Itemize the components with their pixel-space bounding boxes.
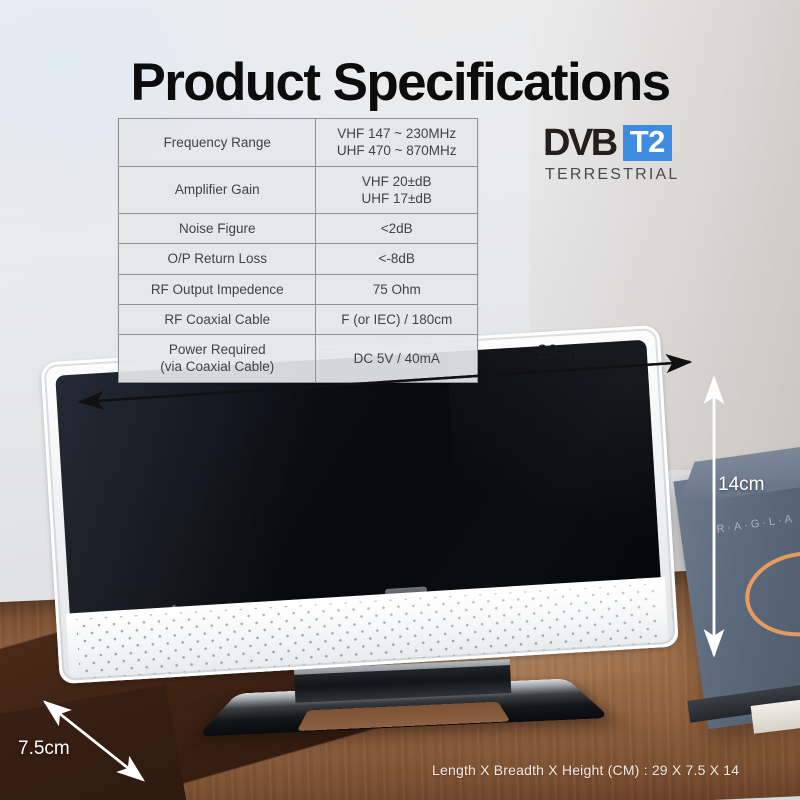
table-row: O/P Return Loss <-8dB: [119, 244, 478, 274]
spec-value: DC 5V / 40mA: [316, 335, 478, 383]
dvb-wordmark: DVB: [543, 124, 616, 162]
spec-value: <-8dB: [316, 244, 478, 274]
table-row: Power Required (via Coaxial Cable) DC 5V…: [119, 335, 478, 383]
spec-value: VHF 20±dB UHF 17±dB: [316, 166, 478, 214]
spec-label: RF Coaxial Cable: [119, 304, 316, 334]
spec-value: <2dB: [316, 214, 478, 244]
table-row: Noise Figure <2dB: [119, 214, 478, 244]
spec-label: Frequency Range: [119, 119, 316, 167]
spec-value: F (or IEC) / 180cm: [316, 304, 478, 334]
table-row: RF Coaxial Cable F (or IEC) / 180cm: [119, 304, 478, 334]
dvb-logo-row: DVB T2: [543, 124, 672, 162]
spec-table-body: Frequency Range VHF 147 ~ 230MHz UHF 470…: [119, 119, 478, 383]
spec-label: Power Required (via Coaxial Cable): [119, 335, 316, 383]
dimensions-caption: Length X Breadth X Height (CM) : 29 X 7.…: [432, 762, 739, 778]
table-row: Frequency Range VHF 147 ~ 230MHz UHF 470…: [119, 119, 478, 167]
spec-value: VHF 147 ~ 230MHz UHF 470 ~ 870MHz: [316, 119, 478, 167]
dvb-t2-logo: DVB T2 TERRESTRIAL: [543, 124, 703, 186]
spec-label: O/P Return Loss: [119, 244, 316, 274]
height-dimension-label: 14cm: [718, 474, 764, 496]
spec-label: Amplifier Gain: [119, 166, 316, 214]
spec-label: Noise Figure: [119, 214, 316, 244]
product-spec-image: R·A·G·L·A DAIYO ® JAPAN: [0, 0, 800, 800]
table-row: RF Output Impedence 75 Ohm: [119, 274, 478, 304]
spec-label: RF Output Impedence: [119, 274, 316, 304]
dvb-subtitle: TERRESTRIAL: [545, 166, 679, 184]
depth-dimension-label: 7.5cm: [18, 738, 70, 760]
spec-value: 75 Ohm: [316, 274, 478, 304]
width-dimension-label: 29cm: [537, 342, 583, 364]
specifications-table: Frequency Range VHF 147 ~ 230MHz UHF 470…: [118, 118, 478, 383]
dvb-t2-badge: T2: [623, 125, 672, 162]
page-title: Product Specifications: [0, 52, 800, 113]
table-row: Amplifier Gain VHF 20±dB UHF 17±dB: [119, 166, 478, 214]
